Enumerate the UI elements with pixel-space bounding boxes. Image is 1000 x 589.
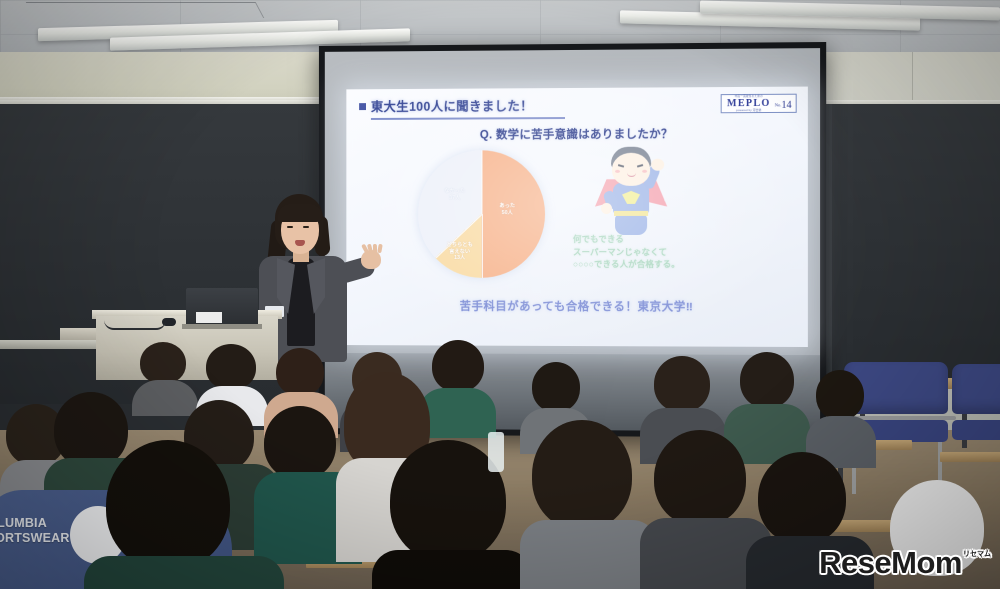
head xyxy=(106,440,230,570)
pie-slice-label-nakatta: なかった 37人 xyxy=(432,188,478,201)
laptop-label xyxy=(196,312,222,323)
pie-label-value: 13人 xyxy=(440,255,480,262)
mascot-cheek xyxy=(642,170,647,173)
head xyxy=(264,406,336,480)
slide-question: Q. 数学に苦手意識はありましたか？ xyxy=(359,125,797,143)
lowered-fist xyxy=(601,203,612,214)
slide-green-caption: 何でもできる スーパーマンじゃなくて ○○○○できる人が合格する。 xyxy=(573,233,764,271)
slide-title: 東大生100人に聞きました！ xyxy=(371,95,533,115)
mascot-belt xyxy=(614,211,648,216)
presenter-mouth xyxy=(295,240,305,246)
chair-seat xyxy=(952,420,1000,440)
watermark-text: ReseMom xyxy=(819,545,962,581)
caption-line-3: ○○○○できる人が合格する。 xyxy=(573,258,764,271)
pie-divider xyxy=(481,150,482,214)
pie-divider xyxy=(481,214,482,278)
torso xyxy=(520,520,658,589)
slide-number: No.14 xyxy=(775,100,792,111)
presentation-slide: 東大生100人に聞きました！ 中高一貫校生のための MEPLO powered … xyxy=(346,87,808,347)
pie-label-value: 37人 xyxy=(432,195,478,202)
slide-number-value: 14 xyxy=(781,100,791,111)
watermark: ReseMom リセマム xyxy=(819,545,991,581)
torso xyxy=(372,550,532,589)
meplo-sub: powered by 河合塾 xyxy=(736,109,761,112)
pie-slice-label-atta: あった 50人 xyxy=(487,203,527,216)
head xyxy=(740,352,794,408)
raised-fist xyxy=(651,159,664,171)
head xyxy=(758,452,846,544)
mascot-legs xyxy=(615,215,647,235)
slide-title-row: 東大生100人に聞きました！ xyxy=(359,95,565,115)
audience-member xyxy=(520,420,650,589)
ceiling-wire xyxy=(26,2,265,18)
head xyxy=(140,342,186,384)
chair[interactable] xyxy=(952,364,1000,484)
watermark-jp-text: リセマム xyxy=(963,549,991,559)
head xyxy=(654,430,746,526)
slide-header: 東大生100人に聞きました！ 中高一貫校生のための MEPLO powered … xyxy=(359,94,797,120)
lecture-hall-scene: 東大生100人に聞きました！ 中高一貫校生のための MEPLO powered … xyxy=(0,0,1000,589)
head xyxy=(654,356,710,412)
presenter-finger xyxy=(373,244,377,253)
meplo-logo: 中高一貫校生のための MEPLO powered by 河合塾 No.14 xyxy=(721,94,797,114)
head xyxy=(532,420,632,530)
head xyxy=(532,362,580,412)
caption-line-2: スーパーマンじゃなくて xyxy=(573,246,764,259)
presenter-bangs xyxy=(278,204,322,222)
caption-line-1: 何でもできる xyxy=(573,233,764,246)
audience-member-foreground xyxy=(84,440,274,589)
cable xyxy=(104,320,166,330)
water-bottle xyxy=(488,432,504,472)
shirt-logo-line-2: SPORTSWEAR xyxy=(0,531,70,546)
head xyxy=(276,348,324,396)
pie-slice-label-dochiratomo: どちらとも 言えない 13人 xyxy=(440,242,480,262)
title-underline xyxy=(371,117,565,120)
laptop-base xyxy=(182,324,262,329)
chair-back xyxy=(952,364,1000,414)
head xyxy=(816,370,864,420)
slide-bottom-message: 苦手科目があっても合格できる！東京大学‼ xyxy=(359,298,797,315)
superman-mascot-icon xyxy=(589,145,673,237)
shirt-logo-line-1: COLUMBIA xyxy=(0,516,70,531)
head xyxy=(206,344,256,390)
pie-chart: あった 50人 どちらとも 言えない 13人 なかった 37人 xyxy=(418,150,545,278)
pie-label-value: 50人 xyxy=(487,210,527,217)
mascot-cheek xyxy=(615,170,620,173)
slide-number-prefix: No. xyxy=(775,103,782,108)
desk xyxy=(940,452,1000,462)
torso xyxy=(84,556,284,589)
square-bullet-icon xyxy=(359,103,366,110)
shirt-logo-text: COLUMBIA SPORTSWEAR xyxy=(0,516,70,546)
slide-body: あった 50人 どちらとも 言えない 13人 なかった 37人 xyxy=(359,144,797,297)
